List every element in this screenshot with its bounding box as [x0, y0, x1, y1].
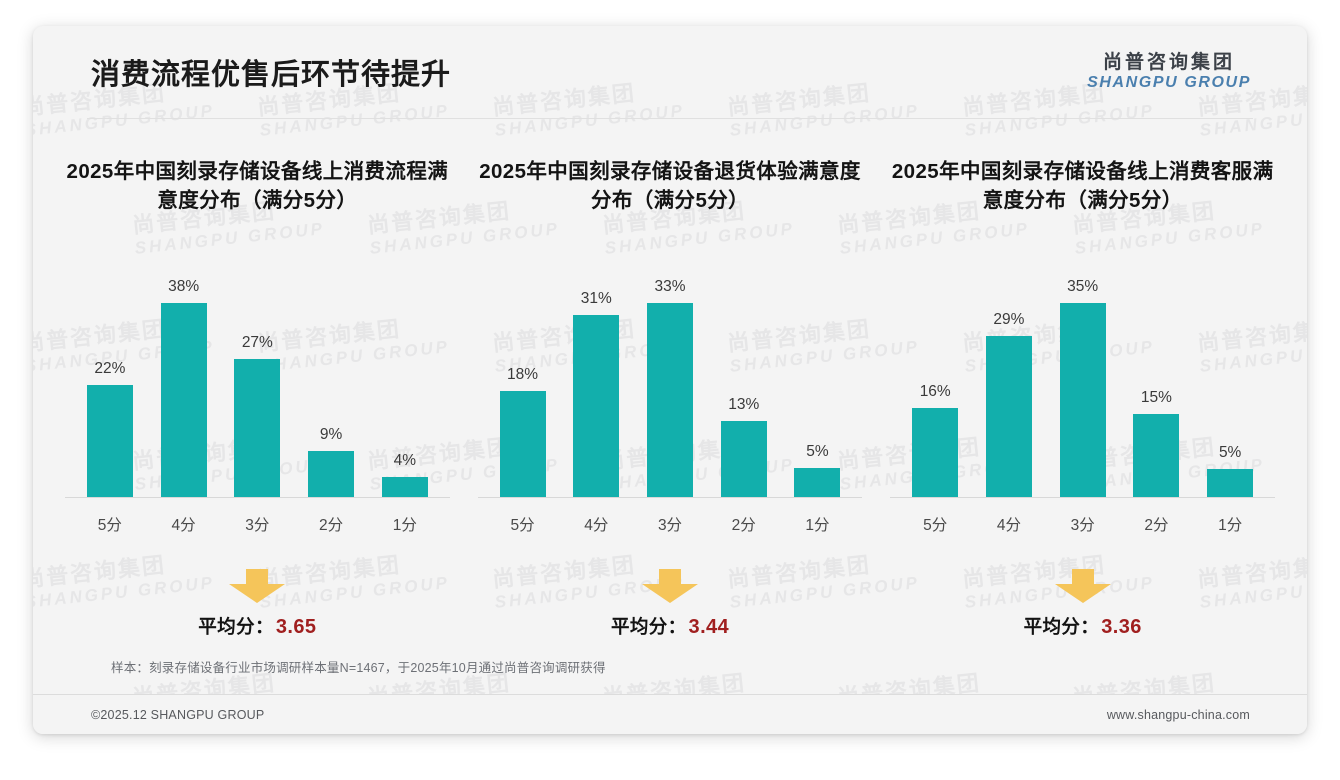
brand-name-en: SHANGPU GROUP: [1087, 74, 1251, 92]
bar[interactable]: [721, 421, 767, 497]
plot-area: 22%38%27%9%4%: [65, 267, 450, 497]
x-axis-line: [478, 497, 863, 498]
bar-slot: 15%: [1120, 267, 1194, 497]
footer-website[interactable]: www.shangpu-china.com: [1107, 708, 1250, 722]
charts-row: 2025年中国刻录存储设备线上消费流程满意度分布（满分5分）22%38%27%9…: [33, 119, 1307, 639]
category-label: 1分: [1193, 513, 1267, 535]
category-label: 4分: [972, 513, 1046, 535]
average-score-value: 3.36: [1101, 616, 1142, 638]
page-title: 消费流程优售后环节待提升: [91, 51, 451, 93]
plot-area: 16%29%35%15%5%: [890, 267, 1275, 497]
average-block: 平均分：3.36: [1024, 569, 1142, 639]
bar[interactable]: [1060, 303, 1106, 497]
bar-slot: 27%: [220, 267, 294, 497]
bar-value-label: 4%: [394, 452, 416, 470]
bar-value-label: 29%: [993, 311, 1024, 329]
bar-slot: 33%: [633, 267, 707, 497]
category-label: 4分: [559, 513, 633, 535]
bars-track: 18%31%33%13%5%: [478, 267, 863, 497]
average-block: 平均分：3.65: [198, 569, 316, 639]
down-arrow-icon: [1055, 569, 1111, 603]
category-label: 2分: [707, 513, 781, 535]
down-arrow-icon: [642, 569, 698, 603]
plot-area: 18%31%33%13%5%: [478, 267, 863, 497]
bar-slot: 4%: [368, 267, 442, 497]
category-label: 1分: [781, 513, 855, 535]
average-score-line: 平均分：3.36: [1024, 613, 1142, 639]
bar[interactable]: [161, 303, 207, 497]
bar-slot: 13%: [707, 267, 781, 497]
bar-slot: 18%: [486, 267, 560, 497]
bar[interactable]: [234, 359, 280, 497]
bar-value-label: 27%: [242, 334, 273, 352]
average-score-label: 平均分：: [1024, 616, 1100, 637]
slide-header: 消费流程优售后环节待提升 尚普咨询集团 SHANGPU GROUP: [33, 26, 1307, 118]
bar-value-label: 35%: [1067, 278, 1098, 296]
bar-value-label: 9%: [320, 426, 342, 444]
bars-track: 16%29%35%15%5%: [890, 267, 1275, 497]
bar[interactable]: [1207, 469, 1253, 497]
category-label: 5分: [73, 513, 147, 535]
category-label: 3分: [1046, 513, 1120, 535]
bar[interactable]: [1133, 414, 1179, 497]
page-wrapper: 尚普咨询集团SHANGPU GROUP尚普咨询集团SHANGPU GROUP尚普…: [0, 0, 1340, 780]
slide-card: 尚普咨询集团SHANGPU GROUP尚普咨询集团SHANGPU GROUP尚普…: [33, 26, 1307, 734]
header-divider: [87, 118, 1253, 119]
bar-value-label: 5%: [806, 443, 828, 461]
bar[interactable]: [647, 303, 693, 497]
x-axis-line: [890, 497, 1275, 498]
average-block: 平均分：3.44: [611, 569, 729, 639]
category-label: 3分: [220, 513, 294, 535]
bar-slot: 16%: [898, 267, 972, 497]
footer-copyright: ©2025.12 SHANGPU GROUP: [91, 708, 264, 722]
bar-value-label: 15%: [1141, 389, 1172, 407]
bar[interactable]: [912, 408, 958, 497]
average-score-label: 平均分：: [198, 616, 274, 637]
bar-value-label: 16%: [920, 383, 951, 401]
bar-slot: 29%: [972, 267, 1046, 497]
bar[interactable]: [794, 468, 840, 497]
bar[interactable]: [573, 315, 619, 497]
average-score-line: 平均分：3.65: [198, 613, 316, 639]
bar-value-label: 31%: [581, 290, 612, 308]
bar-slot: 31%: [559, 267, 633, 497]
chart-title: 2025年中国刻录存储设备线上消费客服满意度分布（满分5分）: [890, 157, 1275, 217]
chart-title: 2025年中国刻录存储设备退货体验满意度分布（满分5分）: [478, 157, 863, 217]
category-label: 2分: [294, 513, 368, 535]
average-score-label: 平均分：: [611, 616, 687, 637]
slide-footer: ©2025.12 SHANGPU GROUP www.shangpu-china…: [33, 694, 1307, 734]
bars-track: 22%38%27%9%4%: [65, 267, 450, 497]
bar-value-label: 38%: [168, 278, 199, 296]
sample-note: 样本：刻录存储设备行业市场调研样本量N=1467，于2025年10月通过尚普咨询…: [111, 657, 606, 676]
chart-panel-3: 2025年中国刻录存储设备线上消费客服满意度分布（满分5分）16%29%35%1…: [876, 157, 1289, 639]
category-label: 5分: [898, 513, 972, 535]
bar-value-label: 22%: [94, 360, 125, 378]
bar-slot: 5%: [1193, 267, 1267, 497]
bar-value-label: 33%: [654, 278, 685, 296]
bar[interactable]: [382, 477, 428, 497]
bar-slot: 22%: [73, 267, 147, 497]
bar-value-label: 13%: [728, 396, 759, 414]
category-label: 2分: [1120, 513, 1194, 535]
bar[interactable]: [500, 391, 546, 497]
brand-name-cn: 尚普咨询集团: [1103, 52, 1235, 73]
chart-panel-1: 2025年中国刻录存储设备线上消费流程满意度分布（满分5分）22%38%27%9…: [51, 157, 464, 639]
chart-title: 2025年中国刻录存储设备线上消费流程满意度分布（满分5分）: [65, 157, 450, 217]
category-label: 1分: [368, 513, 442, 535]
average-score-value: 3.65: [276, 616, 317, 638]
bar-slot: 9%: [294, 267, 368, 497]
category-label: 4分: [147, 513, 221, 535]
average-score-value: 3.44: [689, 616, 730, 638]
category-label: 3分: [633, 513, 707, 535]
x-axis-line: [65, 497, 450, 498]
down-arrow-icon: [229, 569, 285, 603]
bar[interactable]: [986, 336, 1032, 497]
bar-slot: 5%: [781, 267, 855, 497]
chart-panel-2: 2025年中国刻录存储设备退货体验满意度分布（满分5分）18%31%33%13%…: [464, 157, 877, 639]
bar[interactable]: [308, 451, 354, 497]
category-label: 5分: [486, 513, 560, 535]
category-labels: 5分4分3分2分1分: [478, 497, 863, 535]
bar-slot: 35%: [1046, 267, 1120, 497]
category-labels: 5分4分3分2分1分: [65, 497, 450, 535]
average-score-line: 平均分：3.44: [611, 613, 729, 639]
bar-value-label: 5%: [1219, 444, 1241, 462]
bar[interactable]: [87, 385, 133, 497]
bar-value-label: 18%: [507, 366, 538, 384]
brand-logo: 尚普咨询集团 SHANGPU GROUP: [1087, 52, 1251, 91]
bar-slot: 38%: [147, 267, 221, 497]
category-labels: 5分4分3分2分1分: [890, 497, 1275, 535]
